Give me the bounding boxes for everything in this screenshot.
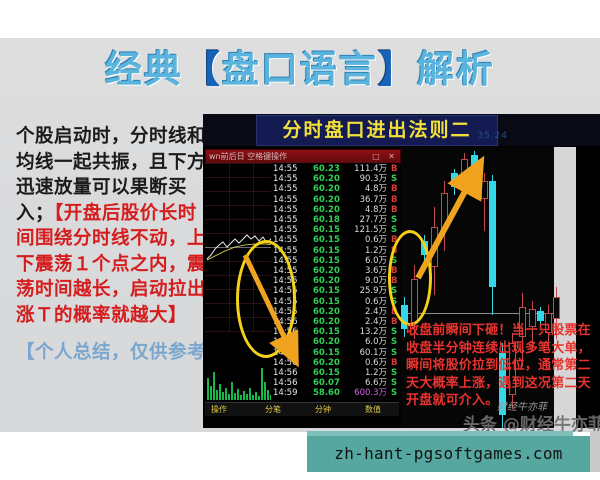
banner-label: 分时盘口进出法则二 <box>256 115 498 146</box>
tick-volume: 600.3万 <box>347 387 387 400</box>
tick-row[interactable]: 14:5958.60600.3万S <box>271 387 399 400</box>
app-window-titlebar[interactable]: wn前后日 空格键操作 □ ✕ <box>205 149 401 164</box>
title-part-pre: 经典 <box>105 48 183 91</box>
slide-canvas: 经典【盘口语言】解析 个股启动时，分时线和均线一起共振，且下方迅速放量可以果断买… <box>0 0 600 480</box>
highlight-ellipse-intraday <box>236 240 296 358</box>
window-control-buttons[interactable]: □ ✕ <box>372 151 398 162</box>
annotation-text: 收盘前瞬间下砸！当一只股票在收盘半分钟连续出现多笔大单，瞬间将股价拉到低位，通常… <box>406 322 594 410</box>
tick-direction-flag: S <box>391 387 397 400</box>
url-bar[interactable]: zh-hant-pgsoftgames.com <box>307 436 590 472</box>
title-part-mid: 盘口语言 <box>222 48 378 91</box>
title-bracket-open: 【 <box>183 48 222 91</box>
body-blue-text: 【个人总结，仅供参考 <box>16 340 212 366</box>
url-bar-edge <box>590 431 600 472</box>
tab-operations[interactable]: 操作 <box>211 404 227 415</box>
tick-time: 14:59 <box>273 387 298 400</box>
left-body-copy: 个股启动时，分时线和均线一起共振，且下方迅速放量可以果断买入；【开盘后股价长时间… <box>16 124 212 366</box>
corner-timestamp: 35.24 <box>477 131 508 141</box>
page-title: 经典【盘口语言】解析 <box>0 47 600 93</box>
top-white-margin <box>0 0 600 38</box>
title-part-post: 解析 <box>417 48 495 91</box>
bottom-tabbar[interactable]: 操作 分笔 分钟 数值 <box>205 402 399 416</box>
tick-price: 58.60 <box>313 387 340 400</box>
title-bracket-close: 】 <box>378 48 417 91</box>
tab-ticks[interactable]: 分笔 <box>265 404 281 415</box>
tab-values[interactable]: 数值 <box>365 404 381 415</box>
highlight-ellipse-candles <box>388 230 432 326</box>
tab-minutes[interactable]: 分钟 <box>315 404 331 415</box>
app-window-title: wn前后日 空格键操作 <box>209 151 287 162</box>
